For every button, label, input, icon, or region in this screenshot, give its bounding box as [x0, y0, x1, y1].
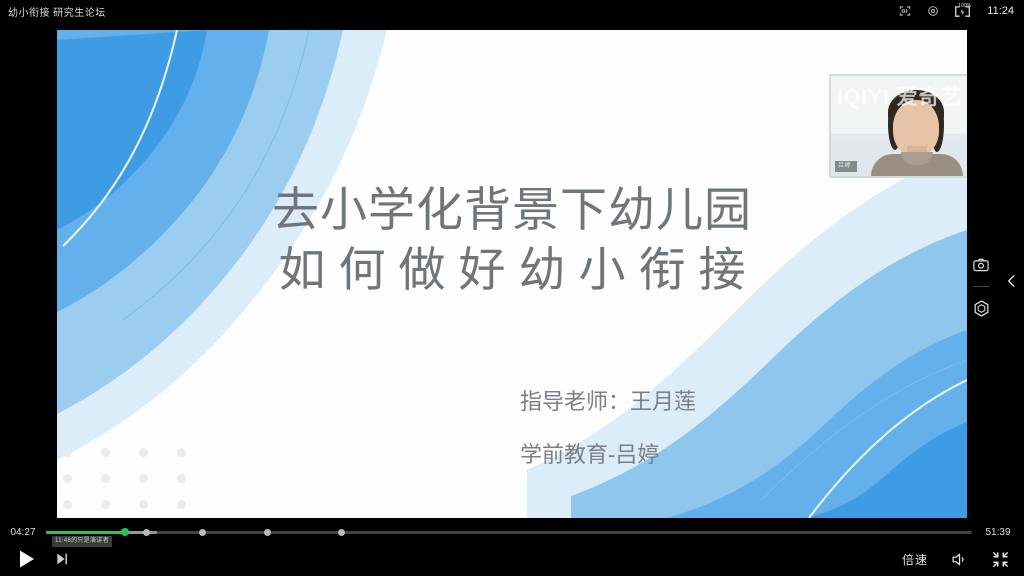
play-icon — [14, 547, 38, 571]
chapter-marker[interactable] — [338, 529, 345, 536]
slide-subtitle: 指导老师：王月莲 学前教育-吕婷 — [57, 375, 967, 481]
volume-button[interactable] — [950, 550, 969, 569]
camera-icon — [972, 256, 990, 274]
video-player-window: 幼小衔接 研究生论坛 100% 11:24 — [0, 0, 1024, 576]
slide-author: 学前教育-吕婷 — [520, 428, 967, 481]
play-button[interactable] — [14, 547, 38, 571]
current-time: 04:27 — [0, 527, 46, 538]
player-bar: 04:27 51:39 11:48的只是演讲者 — [0, 518, 1024, 576]
progress-handle[interactable] — [121, 528, 129, 536]
next-episode-button[interactable] — [54, 551, 70, 567]
chapter-marker[interactable] — [199, 529, 206, 536]
pip-webcam[interactable]: IQIYI 爱奇艺 吕婷 — [829, 74, 967, 178]
video-stage[interactable]: 去小学化背景下幼儿园 如何做好幼小衔接 指导老师：王月莲 学前教育-吕婷 IQI… — [57, 30, 967, 518]
player-controls-right: 倍速 — [902, 550, 1010, 569]
progress-row: 04:27 51:39 — [0, 524, 1024, 540]
window-title: 幼小衔接 研究生论坛 — [8, 4, 106, 19]
slide-title: 去小学化背景下幼儿园 如何做好幼小衔接 — [57, 180, 967, 300]
quality-button[interactable] — [968, 295, 994, 321]
next-track-icon — [54, 551, 70, 567]
clock: 11:24 — [987, 5, 1014, 17]
playback-speed-button[interactable]: 倍速 — [902, 551, 928, 568]
collapse-panel-button[interactable] — [1004, 270, 1020, 292]
cast-icon[interactable] — [898, 4, 912, 18]
title-bar-status-icons: 100% 11:24 — [898, 4, 1014, 18]
chapter-marker[interactable] — [264, 529, 271, 536]
slide-title-line-2: 如何做好幼小衔接 — [57, 240, 967, 300]
settings-gear-icon[interactable] — [926, 4, 940, 18]
battery-icon: 100% — [954, 5, 971, 18]
chevron-left-icon — [1004, 271, 1020, 291]
player-controls-left — [14, 547, 70, 571]
hexagon-quality-icon — [972, 299, 991, 318]
player-controls: 倍速 — [0, 542, 1024, 576]
title-bar: 幼小衔接 研究生论坛 100% 11:24 — [0, 0, 1024, 22]
screenshot-button[interactable] — [968, 252, 994, 278]
side-tool-rail — [967, 252, 995, 321]
battery-percent: 100% — [958, 4, 971, 9]
chapter-marker[interactable] — [143, 529, 150, 536]
slide-advisor: 指导老师：王月莲 — [520, 375, 967, 428]
slide-title-line-1: 去小学化背景下幼儿园 — [57, 180, 967, 240]
pip-name-badge: 吕婷 — [835, 161, 857, 172]
exit-fullscreen-icon — [991, 550, 1010, 569]
total-time: 51:39 — [972, 527, 1024, 538]
exit-fullscreen-button[interactable] — [991, 550, 1010, 569]
progress-fill — [46, 531, 125, 534]
volume-icon — [950, 550, 969, 569]
progress-bar[interactable] — [46, 531, 972, 534]
rail-divider — [973, 286, 989, 287]
